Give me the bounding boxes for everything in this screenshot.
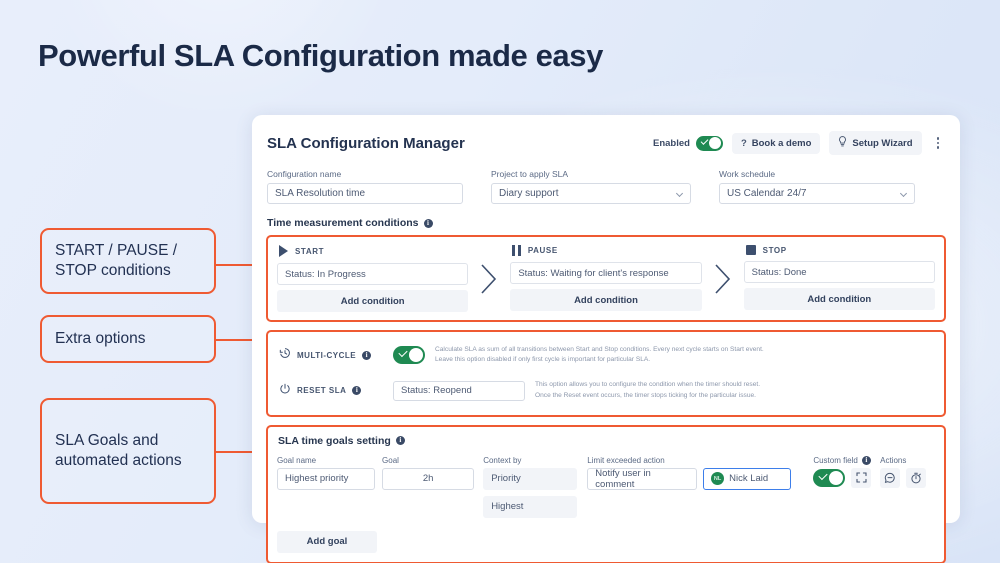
info-icon[interactable]: i xyxy=(352,386,361,395)
power-icon xyxy=(279,382,291,400)
play-icon xyxy=(279,245,288,257)
multi-cycle-label: MULTI-CYCLE xyxy=(297,351,356,360)
context-by-cell: Priority Highest xyxy=(483,468,577,518)
start-label: START xyxy=(295,247,324,256)
callout-label: START / PAUSE / STOP conditions xyxy=(55,241,201,281)
reset-sla-select[interactable]: Status: Reopend xyxy=(393,381,525,401)
callout-label: Extra options xyxy=(55,329,145,349)
goal-row: Highest priority 2h Priority Highest Not… xyxy=(277,468,935,518)
limit-exceeded-action-select[interactable]: Notify user in comment xyxy=(587,468,697,490)
chevron-right-icon xyxy=(712,259,734,299)
page-title: Powerful SLA Configuration made easy xyxy=(38,38,603,74)
work-schedule-field: Work schedule US Calendar 24/7 xyxy=(719,169,915,204)
condition-column-pause: PAUSE Status: Waiting for client's respo… xyxy=(510,245,701,312)
info-icon[interactable]: i xyxy=(862,456,871,465)
sla-configuration-card: SLA Configuration Manager Enabled ? Book… xyxy=(252,115,960,523)
enabled-label: Enabled xyxy=(653,138,690,149)
project-to-apply-field: Project to apply SLA Diary support xyxy=(491,169,691,204)
assignee-cell: NL Nick Laid xyxy=(703,468,791,490)
multi-cycle-name: MULTI-CYCLE i xyxy=(279,346,383,364)
reset-sla-row: RESET SLA i Status: Reopend This option … xyxy=(279,380,933,400)
info-icon[interactable]: i xyxy=(362,351,371,360)
goal-name-header: Goal name xyxy=(277,456,375,465)
pause-header: PAUSE xyxy=(510,245,701,256)
extra-options-grid: MULTI-CYCLE i Calculate SLA as sum of al… xyxy=(277,340,935,407)
goals-header-row: Goal name Goal Context by Limit exceeded… xyxy=(277,456,935,465)
reset-sla-label: RESET SLA xyxy=(297,386,346,395)
pause-condition-value[interactable]: Status: Waiting for client's response xyxy=(510,262,701,284)
stop-condition-value[interactable]: Status: Done xyxy=(744,261,935,283)
limit-exceeded-action-value: Notify user in comment xyxy=(595,468,689,490)
actions-cell xyxy=(880,468,935,488)
header-toolbar: Enabled ? Book a demo Setup Wizard xyxy=(653,131,945,155)
work-schedule-select[interactable]: US Calendar 24/7 xyxy=(719,183,915,204)
limit-exceeded-action-header: Limit exceeded action xyxy=(587,456,697,465)
history-icon xyxy=(279,346,291,364)
custom-field-label: Custom field xyxy=(813,456,857,465)
start-add-condition-button[interactable]: Add condition xyxy=(277,290,468,312)
chevron-down-icon xyxy=(676,190,683,197)
comment-icon[interactable] xyxy=(880,468,900,488)
sla-goals-title: SLA time goals setting i xyxy=(278,435,935,447)
sla-goals-label: SLA time goals setting xyxy=(278,435,391,447)
book-a-demo-label: Book a demo xyxy=(752,138,812,149)
time-measurement-conditions-label: Time measurement conditions xyxy=(267,217,419,229)
info-icon[interactable]: i xyxy=(424,219,433,228)
multi-cycle-description: Calculate SLA as sum of all transitions … xyxy=(435,345,764,365)
reset-sla-desc-line1: This option allows you to configure the … xyxy=(535,380,760,390)
reset-sla-value: Status: Reopend xyxy=(401,385,472,396)
goal-name-cell: Highest priority xyxy=(277,468,375,490)
conditions-row: START Status: In Progress Add condition … xyxy=(277,245,935,312)
expand-icon[interactable] xyxy=(851,468,871,488)
config-fields-row: Configuration name SLA Resolution time P… xyxy=(266,169,946,204)
stop-add-condition-button[interactable]: Add condition xyxy=(744,288,935,310)
chevron-separator-1 xyxy=(468,245,510,312)
goal-duration-input[interactable]: 2h xyxy=(382,468,474,490)
user-column-header xyxy=(703,456,791,465)
conditions-highlight-box: START Status: In Progress Add condition … xyxy=(266,235,946,322)
sla-goals-highlight-box: SLA time goals setting i Goal name Goal … xyxy=(266,425,946,563)
pause-icon xyxy=(512,245,521,256)
multi-cycle-row: MULTI-CYCLE i Calculate SLA as sum of al… xyxy=(279,345,933,365)
work-schedule-label: Work schedule xyxy=(719,169,915,179)
project-to-apply-label: Project to apply SLA xyxy=(491,169,691,179)
multi-cycle-desc-line1: Calculate SLA as sum of all transitions … xyxy=(435,345,764,355)
multi-cycle-toggle[interactable] xyxy=(393,346,425,364)
custom-field-cell xyxy=(813,468,874,488)
custom-field-header: Custom field i xyxy=(813,456,874,465)
callout-start-pause-stop: START / PAUSE / STOP conditions xyxy=(40,228,216,294)
project-to-apply-value: Diary support xyxy=(499,188,558,199)
reset-sla-desc-line2: Once the Reset event occurs, the timer s… xyxy=(535,391,760,401)
stop-header: STOP xyxy=(744,245,935,255)
assignee-select[interactable]: NL Nick Laid xyxy=(703,468,791,490)
condition-column-start: START Status: In Progress Add condition xyxy=(277,245,468,312)
context-by-value: Priority xyxy=(491,473,521,484)
reset-sla-description: This option allows you to configure the … xyxy=(535,380,760,400)
chevron-right-icon xyxy=(478,259,500,299)
pause-label: PAUSE xyxy=(528,246,558,255)
pause-add-condition-button[interactable]: Add condition xyxy=(510,289,701,311)
context-value-select[interactable]: Highest xyxy=(483,496,577,518)
actions-header: Actions xyxy=(880,456,935,465)
condition-column-stop: STOP Status: Done Add condition xyxy=(744,245,935,312)
setup-wizard-button[interactable]: Setup Wizard xyxy=(829,131,921,155)
goal-name-input[interactable]: Highest priority xyxy=(277,468,375,490)
multi-cycle-desc-line2: Leave this option disabled if only first… xyxy=(435,355,764,365)
start-condition-value[interactable]: Status: In Progress xyxy=(277,263,468,285)
avatar: NL xyxy=(711,472,724,485)
book-a-demo-button[interactable]: ? Book a demo xyxy=(732,133,820,154)
configuration-name-field: Configuration name SLA Resolution time xyxy=(267,169,463,204)
info-icon[interactable]: i xyxy=(396,436,405,445)
callout-sla-goals: SLA Goals and automated actions xyxy=(40,398,216,504)
time-measurement-conditions-title: Time measurement conditions i xyxy=(267,217,946,229)
chevron-separator-2 xyxy=(702,245,744,312)
setup-wizard-label: Setup Wizard xyxy=(852,138,912,149)
configuration-name-input[interactable]: SLA Resolution time xyxy=(267,183,463,204)
stop-icon xyxy=(746,245,756,255)
lightbulb-icon xyxy=(838,136,847,150)
chevron-down-icon xyxy=(900,190,907,197)
stop-label: STOP xyxy=(763,246,787,255)
work-schedule-value: US Calendar 24/7 xyxy=(727,188,807,199)
timer-icon[interactable] xyxy=(906,468,926,488)
context-value: Highest xyxy=(491,501,523,512)
context-by-select[interactable]: Priority xyxy=(483,468,577,490)
question-mark-icon: ? xyxy=(741,138,747,149)
assignee-name: Nick Laid xyxy=(729,473,768,484)
start-header: START xyxy=(277,245,468,257)
extra-options-highlight-box: MULTI-CYCLE i Calculate SLA as sum of al… xyxy=(266,330,946,417)
context-by-header: Context by xyxy=(483,456,577,465)
card-title: SLA Configuration Manager xyxy=(267,135,465,152)
custom-field-toggle[interactable] xyxy=(813,469,845,487)
project-to-apply-select[interactable]: Diary support xyxy=(491,183,691,204)
card-header: SLA Configuration Manager Enabled ? Book… xyxy=(266,131,946,155)
goal-duration-cell: 2h xyxy=(382,468,474,490)
enabled-toggle-group[interactable]: Enabled xyxy=(653,136,723,151)
add-goal-button[interactable]: Add goal xyxy=(277,531,377,553)
enabled-toggle[interactable] xyxy=(696,136,723,151)
reset-sla-name: RESET SLA i xyxy=(279,382,383,400)
goal-header: Goal xyxy=(382,456,474,465)
callout-label: SLA Goals and automated actions xyxy=(55,431,201,471)
callout-extra-options: Extra options xyxy=(40,315,216,363)
limit-action-cell: Notify user in comment xyxy=(587,468,697,490)
more-vertical-icon[interactable] xyxy=(931,133,946,153)
configuration-name-label: Configuration name xyxy=(267,169,463,179)
